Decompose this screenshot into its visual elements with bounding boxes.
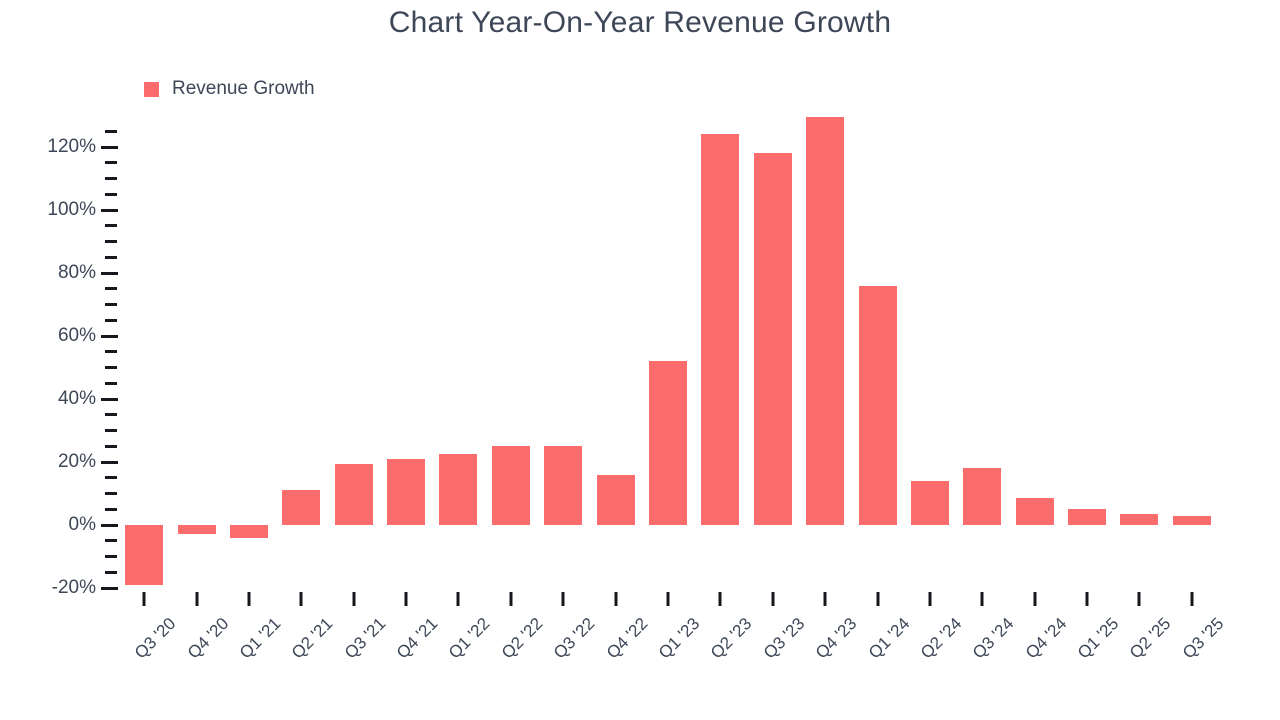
y-axis-tick-minor <box>105 366 117 369</box>
y-axis-label: 120% <box>47 136 96 158</box>
y-axis-label: 80% <box>58 262 96 284</box>
x-axis-label: Q4 '24 <box>1022 614 1071 663</box>
x-axis-tick <box>876 592 879 606</box>
y-axis-tick-minor <box>105 130 117 133</box>
y-axis-tick-minor <box>105 256 117 259</box>
y-axis-tick-minor <box>105 571 117 574</box>
x-axis-tick <box>352 592 355 606</box>
y-axis-label: 0% <box>69 514 96 536</box>
x-axis-tick <box>1138 592 1141 606</box>
y-axis-label: 20% <box>58 451 96 473</box>
y-axis-tick-major <box>101 272 118 275</box>
x-axis-tick <box>981 592 984 606</box>
x-axis-label: Q2 '21 <box>288 614 337 663</box>
x-axis-tick <box>1033 592 1036 606</box>
y-axis-label: 40% <box>58 388 96 410</box>
y-axis-tick-minor <box>105 539 117 542</box>
chart-container: Chart Year-On-Year Revenue Growth Revenu… <box>0 0 1280 720</box>
x-axis: Q3 '20Q4 '20Q1 '21Q2 '21Q3 '21Q4 '21Q1 '… <box>118 0 1218 720</box>
x-axis-tick <box>1190 592 1193 606</box>
y-axis-tick-minor <box>105 508 117 511</box>
y-axis-tick-major <box>101 461 118 464</box>
y-axis-tick-major <box>101 587 118 590</box>
x-axis-label: Q4 '22 <box>603 614 652 663</box>
x-axis-label: Q1 '22 <box>445 614 494 663</box>
x-axis-label: Q1 '24 <box>864 614 913 663</box>
y-axis-tick-minor <box>105 555 117 558</box>
y-axis-tick-minor <box>105 429 117 432</box>
y-axis: -20%0%20%40%60%80%100%120% <box>0 0 120 720</box>
x-axis-tick <box>719 592 722 606</box>
x-axis-label: Q1 '23 <box>655 614 704 663</box>
y-axis-tick-major <box>101 209 118 212</box>
x-axis-tick <box>405 592 408 606</box>
y-axis-tick-minor <box>105 476 117 479</box>
y-axis-tick-major <box>101 335 118 338</box>
x-axis-tick <box>195 592 198 606</box>
y-axis-tick-minor <box>105 319 117 322</box>
x-axis-label: Q1 '21 <box>236 614 285 663</box>
y-axis-tick-major <box>101 146 118 149</box>
y-axis-tick-major <box>101 398 118 401</box>
y-axis-tick-minor <box>105 303 117 306</box>
x-axis-label: Q4 '23 <box>812 614 861 663</box>
y-axis-label: 60% <box>58 325 96 347</box>
x-axis-label: Q3 '25 <box>1179 614 1228 663</box>
y-axis-tick-minor <box>105 224 117 227</box>
x-axis-tick <box>824 592 827 606</box>
y-axis-tick-minor <box>105 193 117 196</box>
x-axis-tick <box>562 592 565 606</box>
y-axis-tick-minor <box>105 492 117 495</box>
x-axis-tick <box>667 592 670 606</box>
x-axis-label: Q2 '22 <box>498 614 547 663</box>
y-axis-tick-minor <box>105 161 117 164</box>
x-axis-label: Q3 '20 <box>131 614 180 663</box>
x-axis-tick <box>771 592 774 606</box>
x-axis-tick <box>247 592 250 606</box>
x-axis-label: Q2 '24 <box>917 614 966 663</box>
x-axis-label: Q2 '25 <box>1126 614 1175 663</box>
x-axis-label: Q2 '23 <box>707 614 756 663</box>
y-axis-tick-minor <box>105 177 117 180</box>
y-axis-tick-major <box>101 524 118 527</box>
y-axis-label: 100% <box>47 199 96 221</box>
x-axis-label: Q1 '25 <box>1074 614 1123 663</box>
x-axis-label: Q3 '23 <box>760 614 809 663</box>
y-axis-tick-minor <box>105 413 117 416</box>
x-axis-label: Q3 '21 <box>341 614 390 663</box>
y-axis-tick-minor <box>105 350 117 353</box>
y-axis-tick-minor <box>105 445 117 448</box>
x-axis-tick <box>509 592 512 606</box>
x-axis-label: Q4 '20 <box>184 614 233 663</box>
y-axis-tick-minor <box>105 240 117 243</box>
x-axis-tick <box>614 592 617 606</box>
x-axis-tick <box>300 592 303 606</box>
x-axis-tick <box>928 592 931 606</box>
y-axis-label: -20% <box>52 577 96 599</box>
x-axis-label: Q3 '24 <box>969 614 1018 663</box>
y-axis-tick-minor <box>105 287 117 290</box>
x-axis-label: Q4 '21 <box>393 614 442 663</box>
x-axis-label: Q3 '22 <box>550 614 599 663</box>
y-axis-tick-minor <box>105 382 117 385</box>
x-axis-tick <box>457 592 460 606</box>
x-axis-tick <box>143 592 146 606</box>
x-axis-tick <box>1086 592 1089 606</box>
